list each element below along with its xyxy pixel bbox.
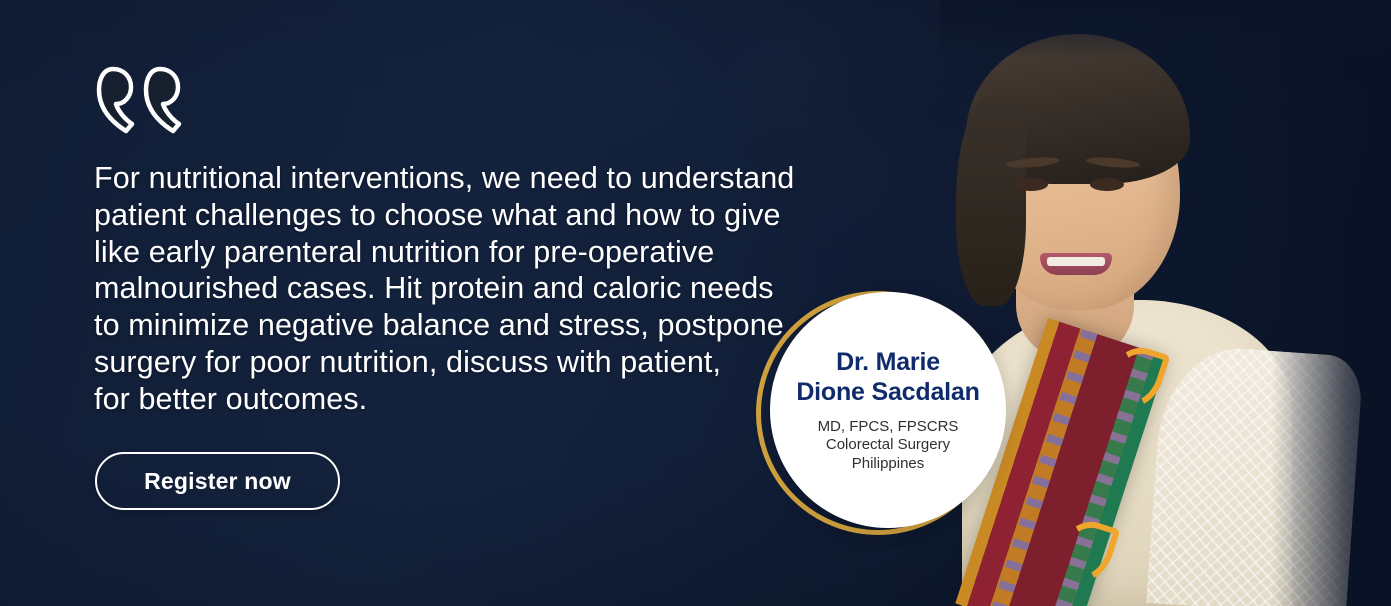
quote-line: for better outcomes.: [94, 381, 794, 418]
speaker-country: Philippines: [818, 455, 959, 474]
quote-line: For nutritional interventions, we need t…: [94, 160, 794, 197]
speaker-quote-banner: For nutritional interventions, we need t…: [0, 0, 1391, 606]
quote-line: surgery for poor nutrition, discuss with…: [94, 344, 794, 381]
speaker-name-line-2: Dione Sacdalan: [796, 377, 979, 407]
speaker-name-line-1: Dr. Marie: [836, 347, 940, 377]
photo-right-fade: [1271, 0, 1391, 606]
quote-line: like early parenteral nutrition for pre-…: [94, 234, 794, 271]
speaker-photo: [940, 0, 1391, 606]
speaker-name-badge: Dr. Marie Dione Sacdalan MD, FPCS, FPSCR…: [770, 292, 1006, 528]
quote-line: to minimize negative balance and stress,…: [94, 307, 794, 344]
speaker-eye-right: [1090, 178, 1124, 191]
quote-line: patient challenges to choose what and ho…: [94, 197, 794, 234]
quote-line: malnourished cases. Hit protein and calo…: [94, 270, 794, 307]
double-quote-icon: [93, 66, 185, 134]
photo-top-fade: [940, 0, 1391, 60]
register-now-button[interactable]: Register now: [95, 452, 340, 510]
speaker-credentials-block: MD, FPCS, FPSCRS Colorectal Surgery Phil…: [818, 418, 959, 474]
speaker-mouth: [1040, 253, 1112, 275]
speaker-eye-left: [1014, 178, 1048, 191]
speaker-credentials: MD, FPCS, FPSCRS: [818, 418, 959, 437]
speaker-specialty: Colorectal Surgery: [818, 436, 959, 455]
quote-text: For nutritional interventions, we need t…: [94, 160, 794, 418]
